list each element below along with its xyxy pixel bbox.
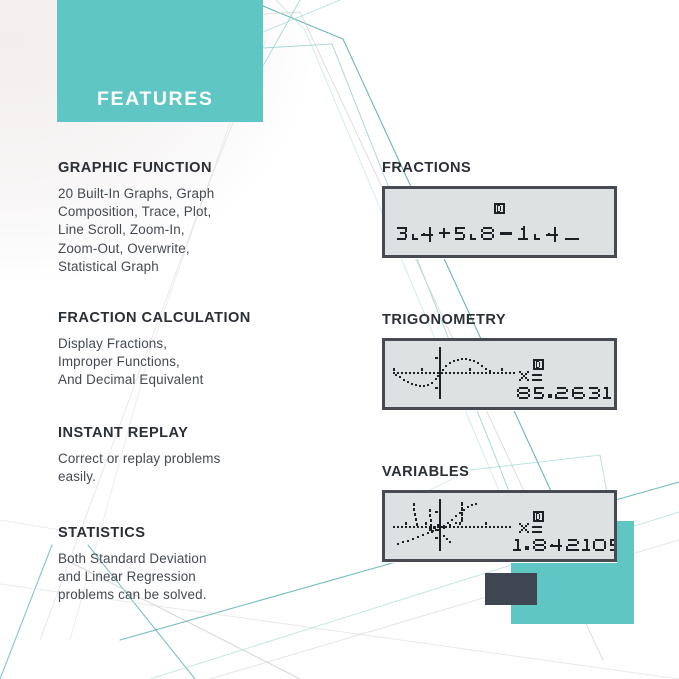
expression-glyphs [397,226,579,242]
feature-body: 20 Built-In Graphs, Graph Composition, T… [58,185,214,276]
mode-indicator-d [494,203,505,214]
feature-title: GRAPHIC FUNCTION [58,160,214,176]
panel-title: FRACTIONS [382,160,620,176]
mode-indicator-d [533,359,544,370]
lcd-content-variables [385,493,614,559]
feature-body: Display Fractions, Improper Functions, A… [58,335,251,390]
feature-title: INSTANT REPLAY [58,425,220,441]
lcd-display-variables [382,490,617,562]
feature-graphic-function: GRAPHIC FUNCTION 20 Built-In Graphs, Gra… [58,160,214,276]
x-prompt [519,371,542,381]
lcd-content-trigonometry [385,341,614,407]
panel-fractions: FRACTIONS [382,160,620,258]
features-badge: FEATURES [57,0,263,122]
feature-title: STATISTICS [58,525,207,541]
panel-title: TRIGONOMETRY [382,312,620,328]
sine-graph [393,347,515,399]
lcd-content-fractions [385,189,614,255]
feature-instant-replay: INSTANT REPLAY Correct or replay problem… [58,425,220,486]
features-infographic: FEATURES GRAPHIC FUNCTION 20 Built-In Gr… [0,0,679,679]
feature-fraction-calculation: FRACTION CALCULATION Display Fractions, … [58,310,251,390]
feature-body: Both Standard Deviation and Linear Regre… [58,550,207,605]
feature-body: Correct or replay problems easily. [58,450,220,486]
value-glyphs [513,539,614,551]
panel-variables: VARIABLES [382,464,620,562]
scatter-regression-graph [393,499,511,551]
mode-indicator-d [533,511,544,522]
dark-accent-tab [485,573,537,605]
x-prompt [519,523,542,533]
features-badge-label: FEATURES [97,88,213,111]
panel-trigonometry: TRIGONOMETRY [382,312,620,410]
feature-statistics: STATISTICS Both Standard Deviation and L… [58,525,207,605]
panel-title: VARIABLES [382,464,620,480]
lcd-display-trigonometry [382,338,617,410]
lcd-display-fractions [382,186,617,258]
value-glyphs [517,387,611,399]
feature-title: FRACTION CALCULATION [58,310,251,326]
